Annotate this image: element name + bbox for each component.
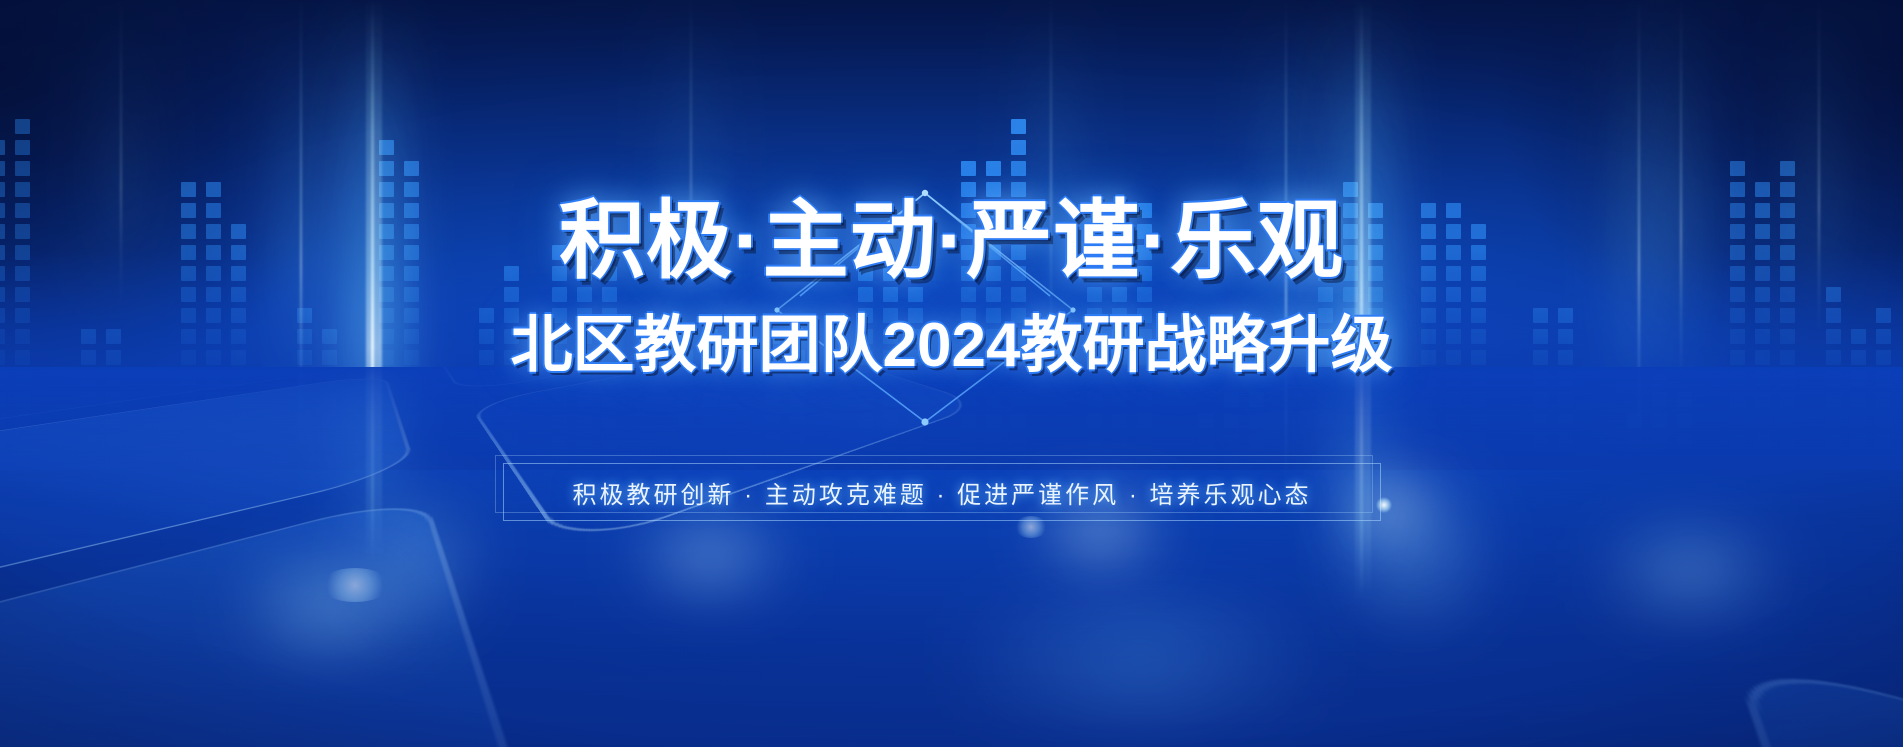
spark-dot [320,568,390,602]
headline-secondary: 北区教研团队2024教研战略升级 [511,294,1393,384]
spark-dot [1014,516,1048,538]
hero-banner: 积极·主动·严谨·乐观 北区教研团队2024教研战略升级 积极教研创新 · 主动… [0,0,1903,747]
spark-dot [1376,497,1392,513]
subtitle-frame: 积极教研创新 · 主动攻克难题 · 促进严谨作风 · 培养乐观心态 [503,463,1381,521]
headline-primary: 积极·主动·严谨·乐观 [559,196,1344,286]
subtitle-text: 积极教研创新 · 主动攻克难题 · 促进严谨作风 · 培养乐观心态 [573,475,1312,510]
headline-block: 积极·主动·严谨·乐观 北区教研团队2024教研战略升级 [0,196,1903,384]
